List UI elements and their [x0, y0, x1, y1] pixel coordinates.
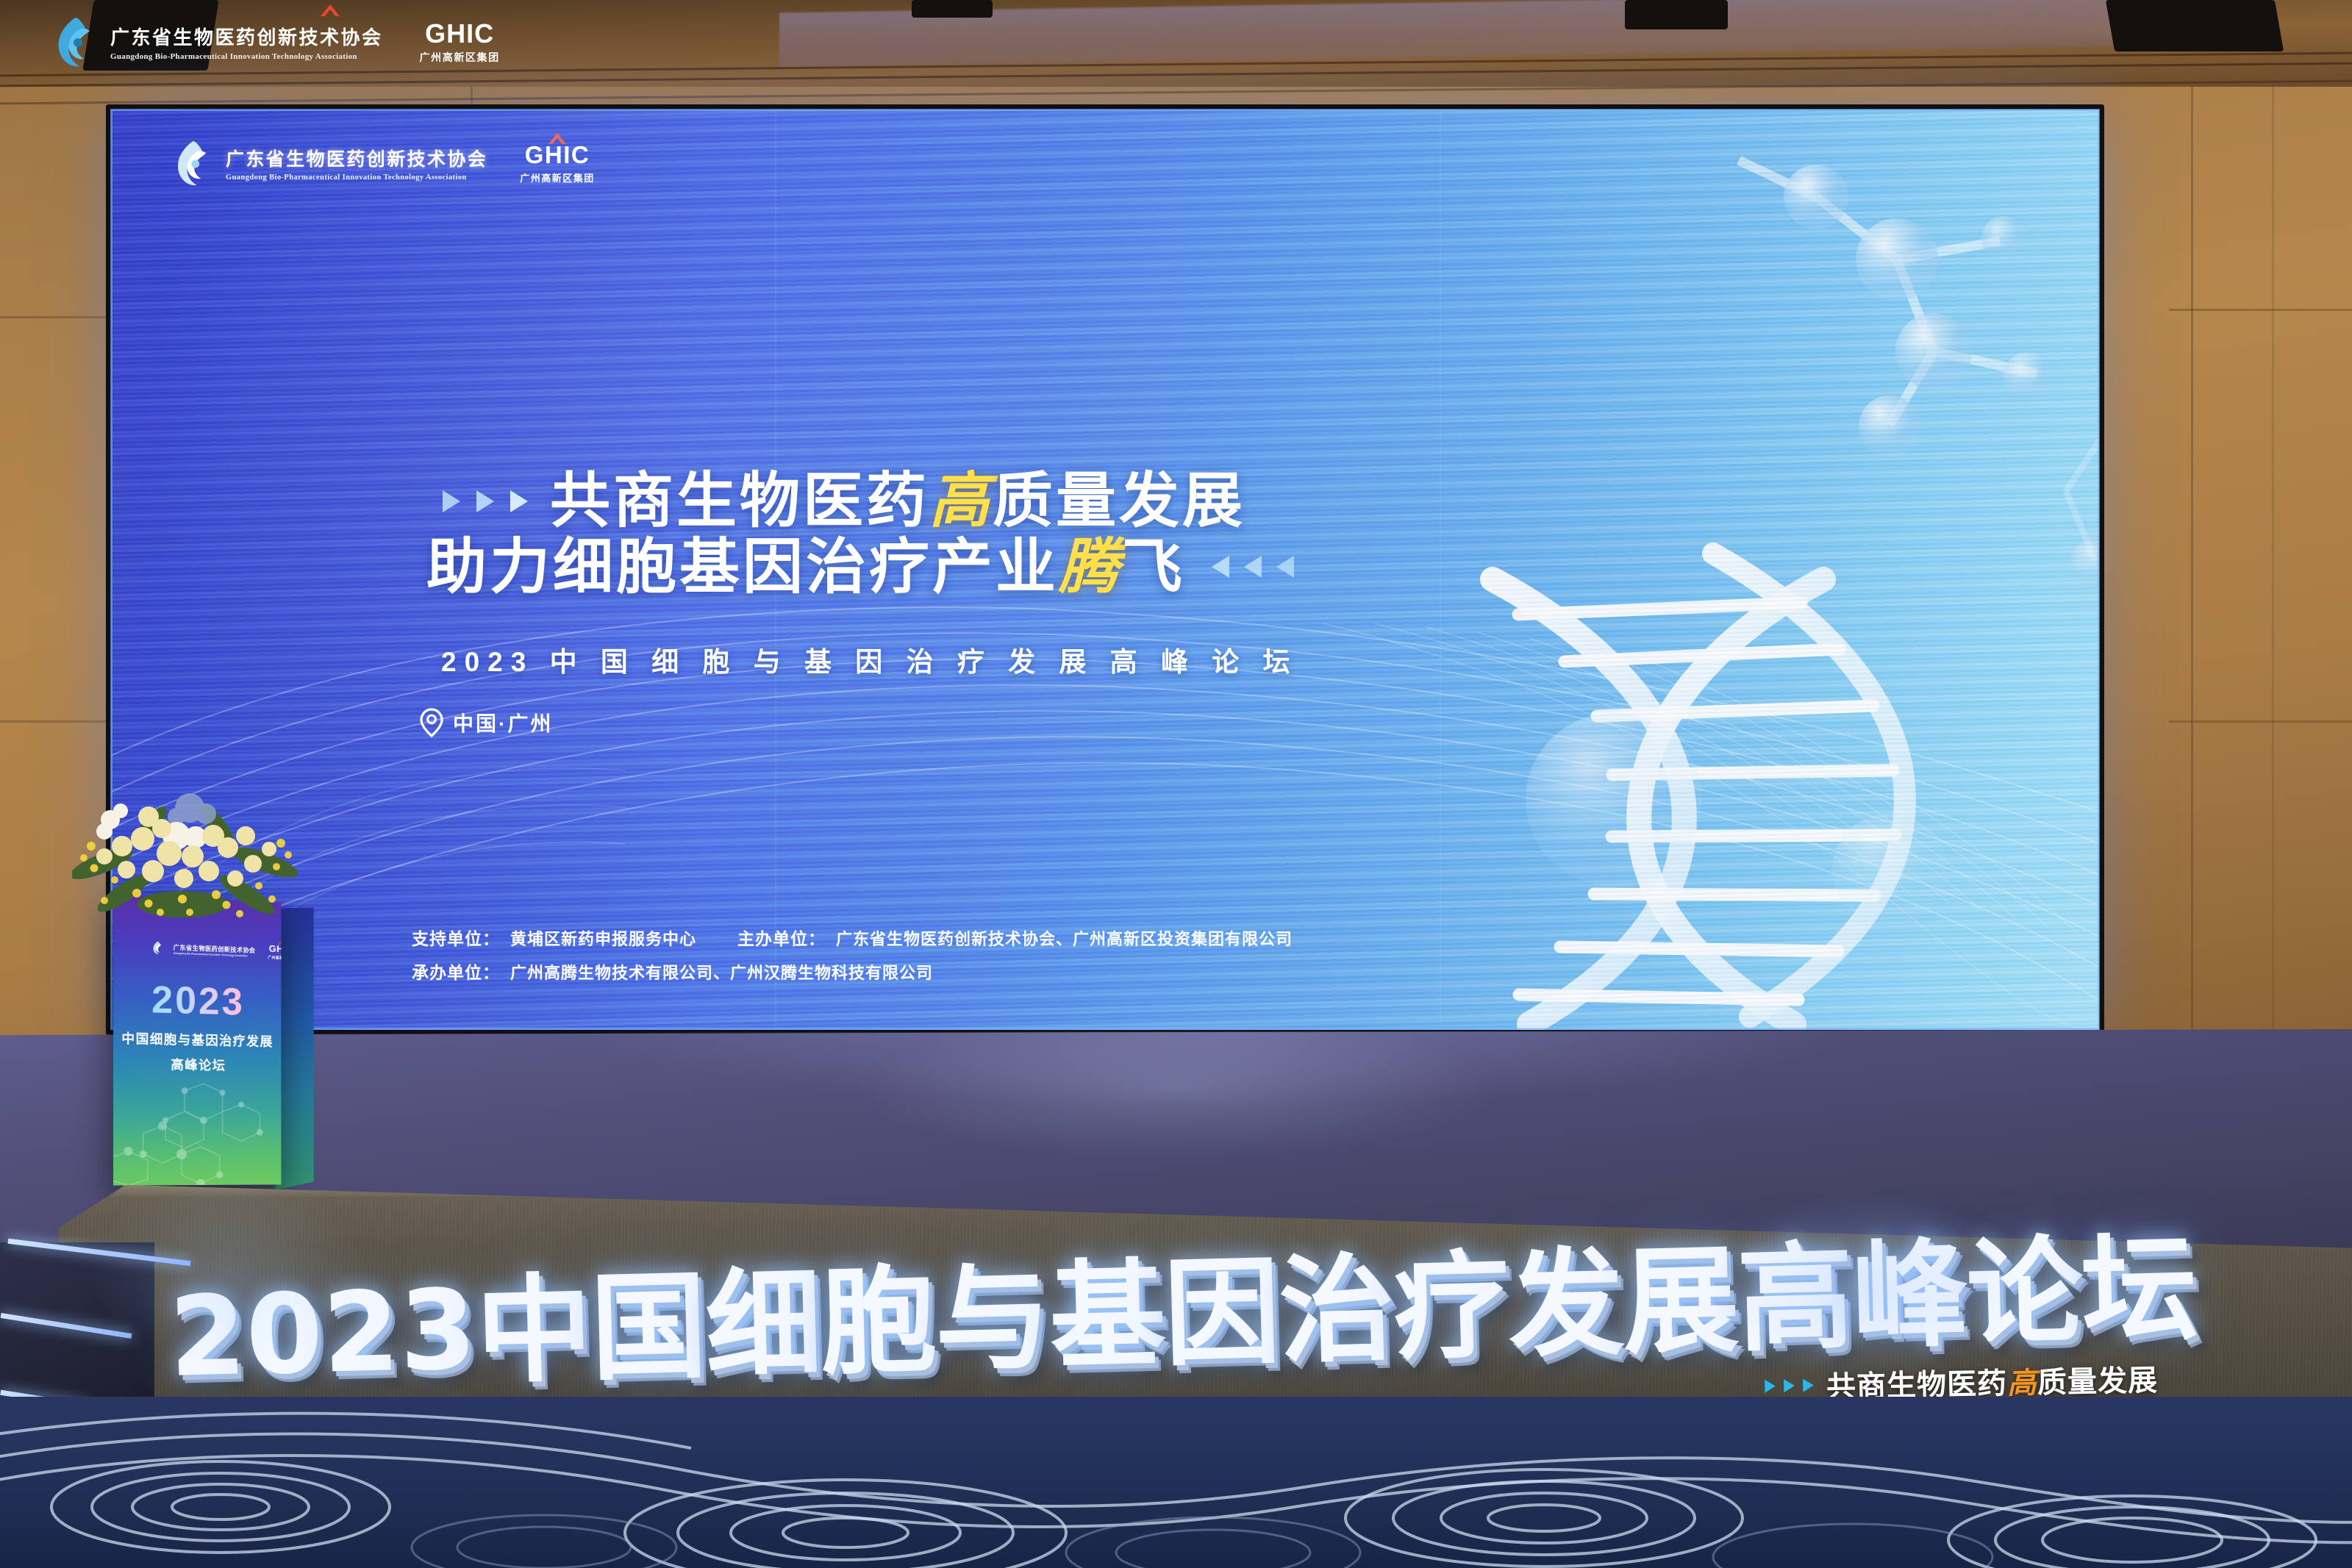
wall-logo-row: 广东省生物医药创新技术协会 Guangdong Bio-Pharmaceutic… [53, 13, 500, 71]
host-label: 主办单位： [737, 925, 826, 950]
screen-association-cn: 广东省生物医药创新技术协会 [226, 145, 487, 171]
credit-row-support-host: 支持单位： 黄埔区新药申报服务中心 主办单位： 广东省生物医药创新技术协会、广州… [412, 925, 1293, 950]
arrow-left-icon [1210, 554, 1231, 579]
carpet-pattern [0, 1397, 2352, 1568]
wall-association-logo: 广东省生物医药创新技术协会 Guangdong Bio-Pharmaceutic… [53, 13, 383, 71]
headline-line1-part1: 共商生物医药 [550, 468, 929, 534]
podium-logo-row: 广东省生物医药创新技术协会 Guangdong Bio-Pharmaceutic… [151, 939, 281, 961]
corner-arrow-right-group [1764, 1377, 1815, 1393]
conference-stage-photo: 广东省生物医药创新技术协会 Guangdong Bio-Pharmaceutic… [0, 0, 2352, 1568]
stage-letter: 因 [1163, 1257, 1281, 1372]
ceiling-speaker-icon [2106, 0, 2284, 51]
host-value: 广东省生物医药创新技术协会、广州高新区投资集团有限公司 [836, 926, 1293, 950]
stage-letter: 3 [398, 1277, 478, 1385]
arrow-right-icon [1802, 1377, 1815, 1392]
credit-row-organizer: 承办单位： 广州高腾生物技术有限公司、广州汉腾生物科技有限公司 [412, 959, 1293, 984]
ghic-caret-icon [278, 941, 281, 945]
stage-letter: 高 [1736, 1242, 1854, 1357]
stage-letter: 国 [590, 1271, 707, 1386]
arrow-right-icon [475, 489, 496, 514]
organizer-label: 承办单位： [412, 959, 500, 984]
podium-ghic-abbr: GHIC [269, 943, 282, 955]
screen-subtitle: 2023 中 国 细 胞 与 基 因 治 疗 发 展 高 峰 论 坛 [441, 640, 1298, 679]
headline-line2-accent: 腾 [1059, 531, 1122, 602]
ghic-caret-icon [548, 133, 566, 144]
screen-location: 中国·广州 [419, 707, 553, 738]
podium-title-line1: 中国细胞与基因治疗发展 [113, 1028, 281, 1050]
stage-letter: 发 [1506, 1248, 1624, 1363]
stage-letter: 2 [321, 1279, 401, 1387]
arrow-right-icon [509, 489, 529, 514]
arrow-right-group [441, 489, 529, 514]
flower-arrangement [72, 776, 300, 923]
arrow-right-icon [1783, 1378, 1795, 1393]
stage-letter: 2 [168, 1283, 248, 1391]
wall-ghic-logo: GHIC 广州高新区集团 [420, 21, 500, 65]
association-mark-icon [173, 137, 215, 190]
headline-line1-part2: 质量发展 [993, 468, 1245, 534]
wall-seam [2191, 74, 2193, 1117]
corner-line1-part2: 质量发展 [2037, 1364, 2159, 1399]
support-label: 支持单位： [412, 925, 500, 950]
ceiling-speaker-icon [912, 0, 993, 18]
organizer-value: 广州高腾生物技术有限公司、广州汉腾生物科技有限公司 [510, 960, 933, 984]
stage-floor-sheen [368, 1032, 2059, 1179]
association-mark-icon [151, 939, 164, 955]
wall-seam [2169, 309, 2352, 311]
wall-seam [2169, 720, 2352, 723]
stage-letter: 坛 [2080, 1234, 2198, 1348]
podium-sign: 广东省生物医药创新技术协会 Guangdong Bio-Pharmaceutic… [113, 894, 281, 1185]
stage-letter: 与 [934, 1263, 1051, 1378]
carpet [0, 1397, 2352, 1568]
wall-association-cn: 广东省生物医药创新技术协会 [110, 23, 383, 50]
podium-year: 2023 [113, 976, 281, 1025]
stage-letter: 疗 [1392, 1251, 1509, 1366]
stage-letter: 论 [1965, 1236, 2083, 1351]
arrow-left-icon [1243, 554, 1263, 579]
stage-letter: 中 [475, 1274, 593, 1389]
wall-ghic-abbr: GHIC [425, 21, 494, 47]
screen-ghic-logo: GHIC 广州高新区集团 [520, 143, 595, 185]
screen-headline: 共商生物医药高质量发展 助力细胞基因治疗产业腾飞 [441, 470, 1691, 598]
ceiling-speaker-icon [1625, 0, 1728, 29]
stage-letter: 基 [1048, 1260, 1166, 1375]
association-mark-icon [53, 13, 100, 71]
arrow-right-icon [441, 489, 462, 514]
stage-letter: 展 [1621, 1245, 1739, 1360]
stage-letter: 0 [245, 1281, 324, 1389]
headline-line1-accent: 高 [929, 465, 993, 536]
stage-letter: 治 [1278, 1254, 1395, 1369]
arrow-left-group [1210, 554, 1295, 579]
arrow-left-icon [1275, 554, 1295, 579]
location-pin-icon [419, 707, 444, 738]
wall-ghic-cn: 广州高新区集团 [420, 50, 500, 65]
screen-association-en: Guangdong Bio-Pharmaceutical Innovation … [226, 173, 487, 182]
stage-letter: 细 [704, 1269, 822, 1383]
stage-letter: 胞 [819, 1266, 937, 1381]
wall-seam [2272, 74, 2274, 1117]
wall-association-en: Guangdong Bio-Pharmaceutical Innovation … [110, 52, 383, 61]
accent-blue-flowers [168, 793, 216, 826]
podium-title-line2: 高峰论坛 [113, 1054, 281, 1075]
screen-association-logo: 广东省生物医药创新技术协会 Guangdong Bio-Pharmaceutic… [173, 137, 487, 190]
ghic-caret-icon [321, 4, 340, 16]
molecule-lattice-pattern [113, 1081, 281, 1185]
corner-line1-accent: 高 [2007, 1365, 2038, 1400]
stage-steps [0, 1242, 154, 1419]
podium-ghic-cn: 广州高新区集团 [268, 955, 281, 961]
headline-line2-part2: 飞 [1122, 534, 1185, 601]
headline-line2-part1: 助力细胞基因治疗产业 [426, 534, 1059, 601]
location-text: 中国·广州 [453, 708, 553, 737]
arrow-right-icon [1764, 1378, 1776, 1393]
screen-credits: 支持单位： 黄埔区新药申报服务中心 主办单位： 广东省生物医药创新技术协会、广州… [412, 925, 1293, 992]
screen-ghic-cn: 广州高新区集团 [520, 171, 595, 185]
stage-letter: 峰 [1851, 1239, 1968, 1354]
screen-logo-row: 广东省生物医药创新技术协会 Guangdong Bio-Pharmaceutic… [173, 137, 595, 190]
screen-ghic-abbr: GHIC [525, 143, 590, 167]
support-value: 黄埔区新药申报服务中心 [510, 926, 696, 950]
